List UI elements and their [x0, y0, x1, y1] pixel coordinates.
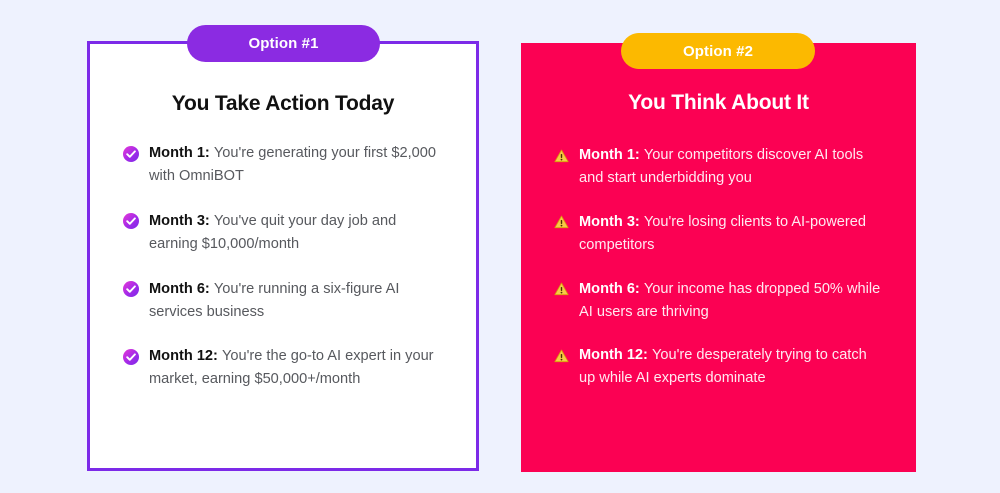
list-item-label: Month 1:: [149, 145, 210, 161]
check-circle-icon: [122, 281, 139, 298]
list-item-text: Month 3: You've quit your day job and ea…: [149, 210, 444, 256]
list-item-text: Month 12: You're desperately trying to c…: [579, 344, 884, 390]
list-item-label: Month 6:: [149, 281, 210, 297]
option-card-2-content: You Think About It Month 1: Your competi…: [521, 43, 916, 472]
list-item-label: Month 3:: [579, 214, 640, 230]
list-item: Month 12: You're desperately trying to c…: [553, 344, 884, 390]
list-item-text: Month 6: Your income has dropped 50% whi…: [579, 278, 884, 324]
check-circle-icon: [122, 145, 139, 162]
list-item: Month 1: You're generating your first $2…: [122, 142, 444, 188]
warning-triangle-icon: [553, 214, 570, 231]
list-item: Month 12: You're the go-to AI expert in …: [122, 345, 444, 391]
option-card-2-title: You Think About It: [553, 91, 884, 115]
option-card-2: You Think About It Month 1: Your competi…: [521, 43, 916, 472]
warning-triangle-icon: [553, 281, 570, 298]
list-item-text: Month 3: You're losing clients to AI-pow…: [579, 211, 884, 257]
option-card-1-title: You Take Action Today: [122, 92, 444, 116]
list-item-label: Month 12:: [149, 348, 218, 364]
comparison-stage: You Take Action Today Month 1: You're ge…: [0, 0, 1000, 493]
list-item-text: Month 1: You're generating your first $2…: [149, 142, 444, 188]
option-card-1-content: You Take Action Today Month 1: You're ge…: [90, 44, 476, 468]
option-1-badge: Option #1: [187, 25, 380, 62]
check-circle-icon: [122, 213, 139, 230]
list-item: Month 3: You've quit your day job and ea…: [122, 210, 444, 256]
list-item-label: Month 6:: [579, 281, 640, 297]
list-item-label: Month 1:: [579, 147, 640, 163]
check-circle-icon: [122, 348, 139, 365]
list-item-label: Month 12:: [579, 347, 648, 363]
option-card-1: You Take Action Today Month 1: You're ge…: [87, 41, 479, 471]
list-item-label: Month 3:: [149, 213, 210, 229]
list-item: Month 1: Your competitors discover AI to…: [553, 144, 884, 190]
option-2-badge: Option #2: [621, 33, 815, 69]
option-card-1-list: Month 1: You're generating your first $2…: [122, 142, 444, 391]
list-item-text: Month 1: Your competitors discover AI to…: [579, 144, 884, 190]
warning-triangle-icon: [553, 347, 570, 364]
list-item-text: Month 6: You're running a six-figure AI …: [149, 278, 444, 324]
warning-triangle-icon: [553, 147, 570, 164]
list-item: Month 6: Your income has dropped 50% whi…: [553, 278, 884, 324]
list-item: Month 3: You're losing clients to AI-pow…: [553, 211, 884, 257]
list-item: Month 6: You're running a six-figure AI …: [122, 278, 444, 324]
list-item-text: Month 12: You're the go-to AI expert in …: [149, 345, 444, 391]
option-card-2-list: Month 1: Your competitors discover AI to…: [553, 144, 884, 390]
